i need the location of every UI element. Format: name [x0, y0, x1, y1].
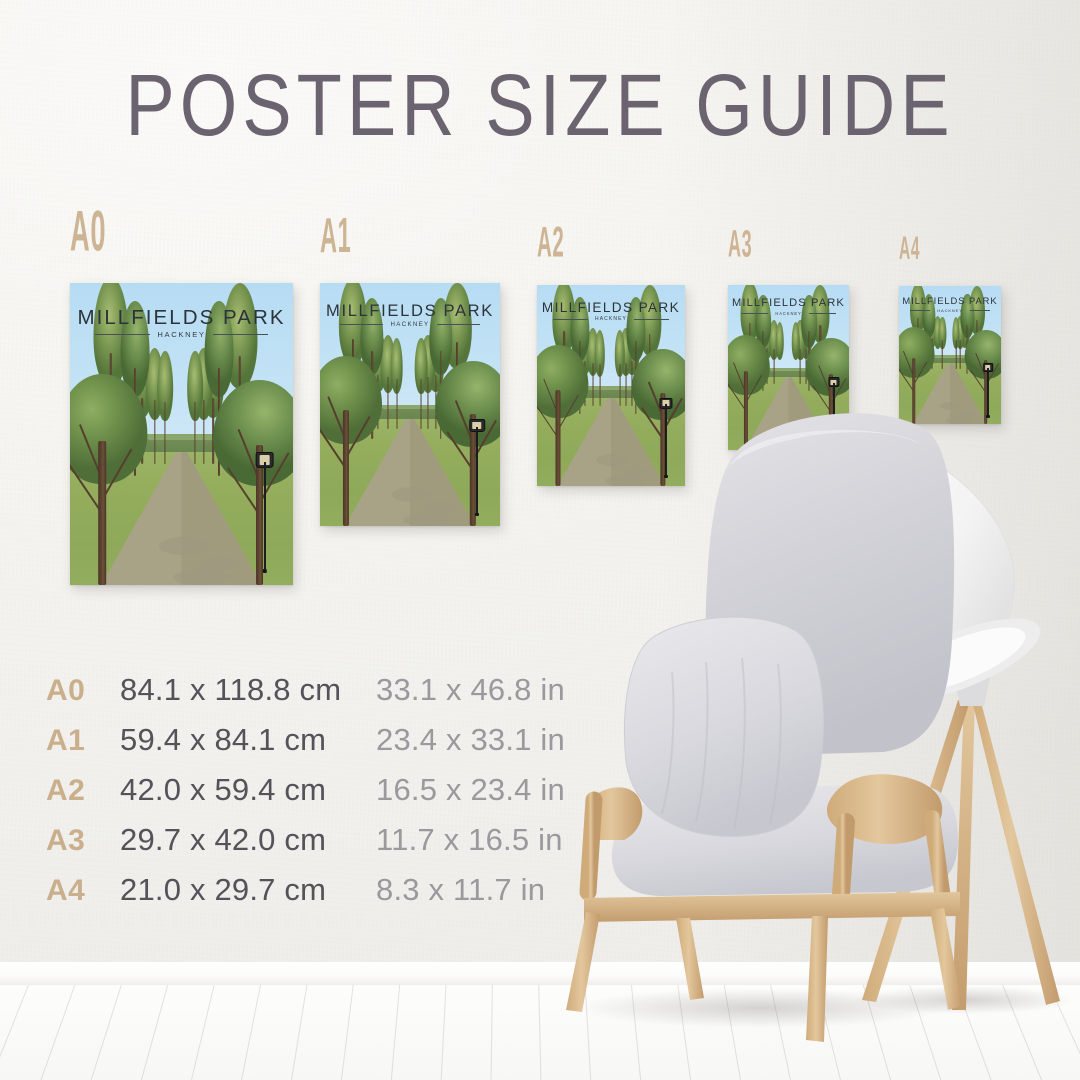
size-table-row: A159.4 x 84.1 cm23.4 x 33.1 in	[46, 722, 606, 772]
poster-path-patch	[424, 502, 456, 514]
size-row-cm: 21.0 x 29.7 cm	[120, 872, 376, 908]
poster-artwork[interactable]: MILLFIELDS PARKHACKNEY	[899, 286, 1001, 424]
poster-path-patch	[605, 476, 643, 486]
floor-plank	[287, 985, 309, 1080]
tree-trunk	[195, 402, 196, 464]
poster-slot-a0[interactable]: A0MILLFIELDS PARKHACKNEY	[70, 283, 293, 585]
tree-trunk	[164, 402, 165, 464]
floor	[0, 985, 1080, 1080]
tree-trunk	[779, 350, 780, 384]
poster-tree-foreground	[80, 374, 125, 585]
poster-lamp-post	[829, 377, 838, 443]
floor-plank	[186, 985, 217, 1080]
floor-plank	[998, 985, 1048, 1080]
poster-subtitle-row: HACKNEY	[553, 316, 668, 322]
poster-subtitle-row: HACKNEY	[340, 321, 480, 328]
floor-plank	[906, 985, 947, 1080]
size-row-cm: 29.7 x 42.0 cm	[120, 822, 376, 858]
tree-trunk	[773, 349, 774, 384]
poster-path-patch	[596, 454, 629, 466]
poster-slot-a3[interactable]: A3MILLFIELDS PARKHACKNEY	[728, 285, 849, 450]
lamp-post-base	[664, 475, 668, 478]
lamp-post-base	[262, 569, 266, 573]
tree-trunk	[796, 350, 797, 384]
lamp-post-pole	[987, 368, 989, 419]
poster-size-label-a0: A0	[70, 200, 106, 265]
poster-artwork[interactable]: MILLFIELDS PARKHACKNEY	[70, 283, 293, 585]
floor-plank	[538, 985, 542, 1080]
floor-plank	[439, 985, 447, 1080]
poster-subtitle: HACKNEY	[937, 308, 963, 313]
poster-rule-left	[553, 319, 588, 320]
poster-title: MILLFIELDS PARK	[537, 300, 685, 316]
floor-plank	[389, 985, 401, 1080]
lamp-post-pole	[665, 404, 667, 478]
size-row-in: 16.5 x 23.4 in	[376, 772, 565, 808]
size-row-in: 33.1 x 46.8 in	[376, 672, 565, 708]
poster-rule-left	[910, 310, 930, 311]
poster-tree-distant	[192, 351, 199, 464]
poster-path-patch	[173, 570, 231, 585]
poster-subtitle-row: HACKNEY	[95, 330, 269, 339]
poster-size-label-a3: A3	[728, 224, 752, 267]
poster-rule-left	[95, 334, 151, 335]
size-row-cm: 84.1 x 118.8 cm	[120, 672, 376, 708]
poster-path-patch	[798, 434, 820, 442]
tree-trunk	[625, 363, 626, 406]
poster-rule-right	[970, 310, 990, 311]
poster-title-block: MILLFIELDS PARKHACKNEY	[537, 300, 685, 322]
poster-artwork[interactable]: MILLFIELDS PARKHACKNEY	[728, 285, 849, 450]
poster-path-patch	[784, 442, 815, 450]
poster-tree-distant	[618, 330, 623, 405]
poster-title-block: MILLFIELDS PARKHACKNEY	[899, 296, 1001, 312]
poster-rule-right	[634, 319, 669, 320]
size-table-row: A242.0 x 59.4 cm16.5 x 23.4 in	[46, 772, 606, 822]
tree-trunk	[912, 358, 915, 424]
lamp-post-pole	[833, 383, 835, 444]
size-table: A084.1 x 118.8 cm33.1 x 46.8 inA159.4 x …	[46, 672, 606, 922]
tree-trunk	[800, 349, 801, 384]
poster-subtitle-row: HACKNEY	[741, 311, 835, 316]
poster-artwork[interactable]: MILLFIELDS PARKHACKNEY	[537, 285, 685, 486]
size-row-cm: 59.4 x 84.1 cm	[120, 722, 376, 758]
poster-rule-right	[437, 324, 481, 325]
poster-size-comparison-row: A0MILLFIELDS PARKHACKNEYA1MILLFIELDS PAR…	[0, 0, 1080, 620]
tree-trunk	[396, 379, 397, 429]
floor-plank	[952, 985, 998, 1080]
size-table-row: A421.0 x 29.7 cm8.3 x 11.7 in	[46, 872, 606, 922]
poster-title-block: MILLFIELDS PARKHACKNEY	[728, 297, 849, 315]
poster-rule-right	[213, 334, 269, 335]
size-row-in: 8.3 x 11.7 in	[376, 872, 545, 908]
poster-path-patch	[392, 487, 432, 502]
poster-lamp-post	[661, 398, 672, 478]
poster-size-label-a4: A4	[899, 230, 920, 268]
tree-trunk	[743, 371, 747, 450]
tree-trunk	[937, 340, 938, 369]
poster-size-label-a2: A2	[537, 218, 564, 267]
poster-tree-foreground	[733, 335, 757, 451]
floor-plank	[135, 985, 171, 1080]
floor-plank	[768, 985, 796, 1080]
poster-path-patch	[403, 514, 450, 526]
size-row-code: A1	[46, 724, 120, 758]
size-row-code: A2	[46, 774, 120, 808]
poster-lamp-post	[984, 363, 992, 418]
tree-trunk	[593, 363, 594, 406]
floor-plank	[814, 985, 846, 1080]
tree-trunk	[388, 377, 389, 428]
poster-path-patch	[623, 466, 650, 476]
poster-slot-a4[interactable]: A4MILLFIELDS PARKHACKNEY	[899, 286, 1001, 424]
floor-plank	[85, 985, 125, 1080]
lamp-post-base	[986, 415, 990, 418]
lamp-post-pole	[264, 462, 266, 573]
floor-plank	[676, 985, 694, 1080]
poster-rule-left	[340, 324, 384, 325]
tree-trunk	[960, 340, 961, 369]
poster-subtitle: HACKNEY	[775, 311, 801, 316]
tree-trunk	[600, 364, 601, 405]
poster-rule-right	[809, 313, 836, 314]
tree-trunk	[956, 340, 957, 368]
poster-path-patch	[159, 537, 208, 555]
poster-path-patch	[958, 410, 976, 417]
poster-rule-left	[741, 313, 768, 314]
poster-lamp-post	[256, 452, 273, 573]
tree-trunk	[421, 379, 422, 429]
lamp-post-pole	[476, 427, 478, 516]
poster-tree-distant	[598, 330, 603, 405]
poster-tree-foreground	[328, 356, 364, 526]
poster-title: MILLFIELDS PARK	[728, 297, 849, 310]
poster-title-block: MILLFIELDS PARKHACKNEY	[320, 301, 500, 328]
poster-tree-distant	[161, 351, 168, 464]
floor-plank	[630, 985, 643, 1080]
size-table-row: A084.1 x 118.8 cm33.1 x 46.8 in	[46, 672, 606, 722]
poster-tree-foreground	[544, 345, 574, 486]
poster-artwork[interactable]: MILLFIELDS PARKHACKNEY	[320, 283, 500, 526]
poster-path-patch	[199, 555, 239, 570]
poster-title: MILLFIELDS PARK	[320, 301, 500, 321]
floor-plank	[237, 985, 263, 1080]
size-row-cm: 42.0 x 59.4 cm	[120, 772, 376, 808]
lamp-post-base	[832, 440, 836, 443]
poster-path-patch	[946, 417, 973, 424]
poster-tree-distant	[941, 317, 944, 369]
size-row-code: A4	[46, 874, 120, 908]
size-row-code: A3	[46, 824, 120, 858]
lamp-post-base	[475, 513, 479, 516]
size-row-code: A0	[46, 674, 120, 708]
poster-slot-a1[interactable]: A1MILLFIELDS PARKHACKNEY	[320, 283, 500, 526]
tree-trunk	[99, 441, 107, 585]
poster-tree-distant	[778, 322, 782, 384]
poster-title-block: MILLFIELDS PARKHACKNEY	[70, 306, 293, 340]
floor-plank	[338, 985, 355, 1080]
size-row-in: 23.4 x 33.1 in	[376, 722, 565, 758]
size-table-row: A329.7 x 42.0 cm11.7 x 16.5 in	[46, 822, 606, 872]
floor-plank	[34, 985, 79, 1080]
floor-plank	[0, 985, 33, 1080]
poster-lamp-post	[470, 419, 484, 516]
poster-subtitle: HACKNEY	[157, 330, 205, 339]
poster-title: MILLFIELDS PARK	[70, 306, 293, 331]
tree-trunk	[343, 410, 349, 526]
poster-tree-distant	[394, 338, 400, 429]
poster-title: MILLFIELDS PARK	[899, 296, 1001, 307]
floor-plank	[860, 985, 897, 1080]
tree-trunk	[427, 377, 428, 428]
poster-size-label-a1: A1	[320, 209, 351, 265]
poster-tree-distant	[955, 317, 958, 369]
poster-subtitle-row: HACKNEY	[910, 308, 990, 313]
poster-tree-distant	[794, 322, 798, 384]
poster-subtitle: HACKNEY	[391, 321, 430, 328]
floor-plank	[1044, 985, 1080, 1080]
tree-trunk	[556, 390, 561, 486]
poster-tree-distant	[418, 338, 424, 429]
floor-plank	[490, 985, 493, 1080]
size-row-in: 11.7 x 16.5 in	[376, 822, 563, 858]
tree-trunk	[942, 340, 943, 368]
poster-tree-foreground	[904, 327, 924, 424]
floor-plank	[722, 985, 745, 1080]
tree-trunk	[620, 364, 621, 405]
floor-plank	[584, 985, 593, 1080]
poster-size-guide-page: POSTER SIZE GUIDE A0MILLFIELDS PARKHACKN…	[0, 0, 1080, 1080]
poster-slot-a2[interactable]: A2MILLFIELDS PARKHACKNEY	[537, 285, 685, 486]
poster-subtitle: HACKNEY	[595, 316, 627, 322]
